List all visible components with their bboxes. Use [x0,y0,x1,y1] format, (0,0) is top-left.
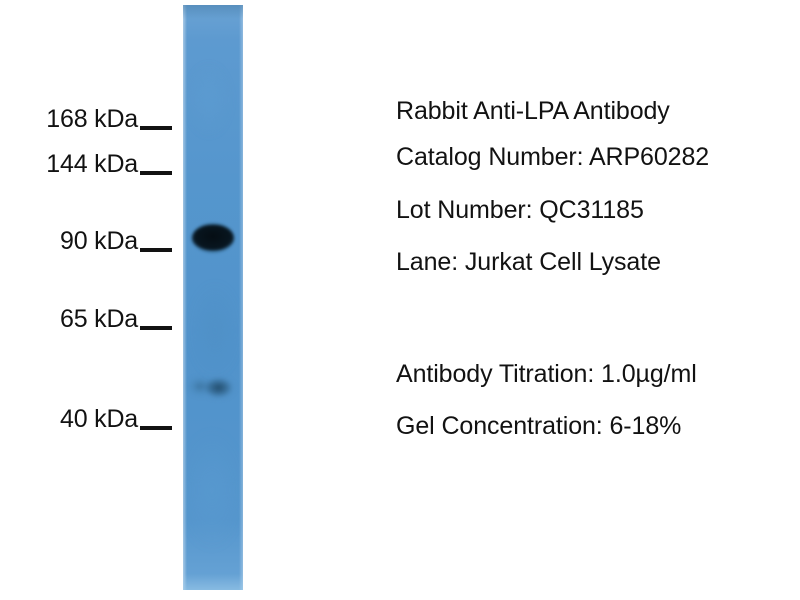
marker-tick-icon [140,426,172,430]
marker-label: 90 kDa [60,227,138,256]
marker-row: 65 kDa [60,305,172,334]
marker-label: 65 kDa [60,305,138,334]
marker-row: 90 kDa [60,227,172,256]
info-antibody-name: Rabbit Anti-LPA Antibody [396,97,670,126]
info-lane-sample: Lane: Jurkat Cell Lysate [396,248,661,277]
marker-tick-icon [140,126,172,130]
western-blot-figure: 168 kDa 144 kDa 90 kDa 65 kDa 40 kDa [0,0,800,600]
info-antibody-titration: Antibody Titration: 1.0µg/ml [396,360,697,389]
band-primary-core [192,225,234,250]
lane-texture [193,285,237,375]
marker-row: 168 kDa [46,105,172,134]
band-secondary-faint [185,371,239,403]
blot-info-block: Rabbit Anti-LPA Antibody Catalog Number:… [396,0,800,600]
molecular-weight-ladder: 168 kDa 144 kDa 90 kDa 65 kDa 40 kDa [0,0,178,600]
lane-texture [185,435,239,545]
marker-row: 144 kDa [46,150,172,179]
blot-lane [183,5,243,590]
info-catalog-number: Catalog Number: ARP60282 [396,143,709,172]
lane-bottom-glow [183,574,243,590]
marker-tick-icon [140,326,172,330]
marker-row: 40 kDa [60,405,172,434]
marker-tick-icon [140,248,172,252]
marker-label: 168 kDa [46,105,138,134]
lane-top-shadow [183,5,243,19]
marker-label: 144 kDa [46,150,138,179]
marker-label: 40 kDa [60,405,138,434]
marker-tick-icon [140,171,172,175]
lane-texture [189,65,229,135]
info-gel-concentration: Gel Concentration: 6-18% [396,412,681,441]
info-lot-number: Lot Number: QC31185 [396,196,644,225]
